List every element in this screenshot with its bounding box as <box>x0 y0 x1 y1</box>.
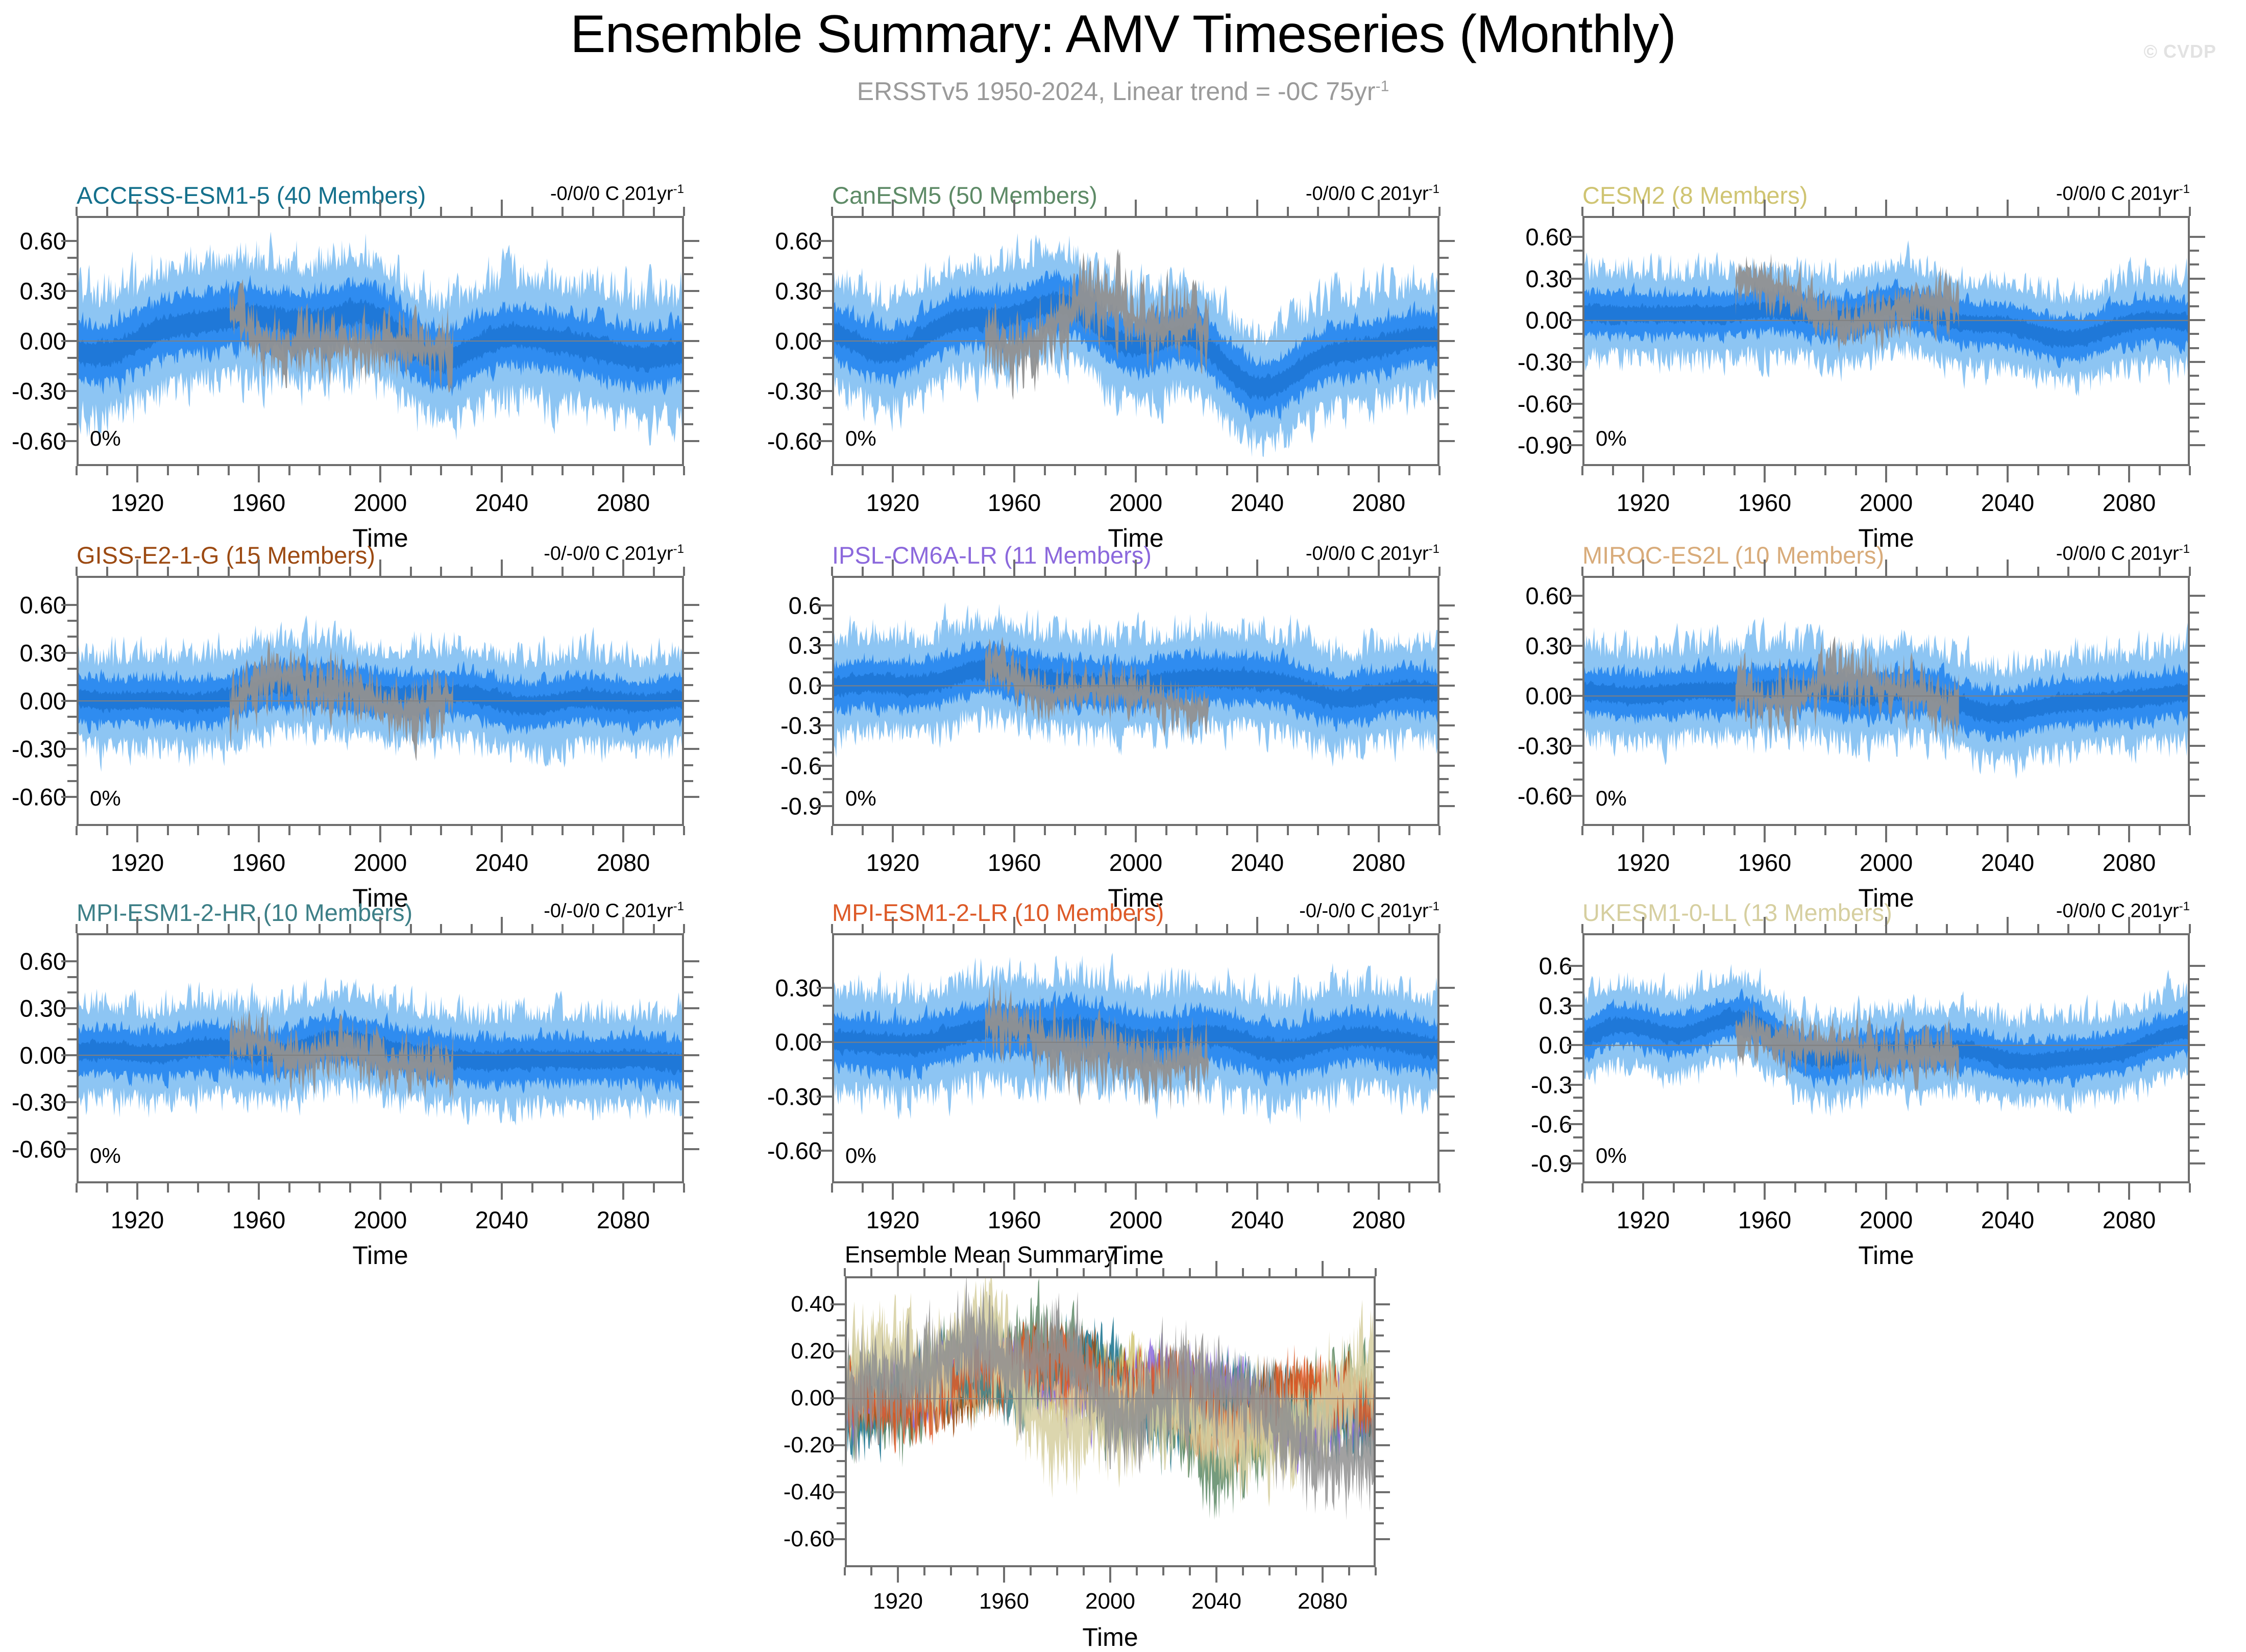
axis-tick <box>1439 698 1449 700</box>
y-axis-label: -0.3 <box>1455 1071 1572 1099</box>
y-axis-label: 0.30 <box>0 994 66 1023</box>
timeseries-plot <box>79 578 682 824</box>
axis-tick <box>592 207 594 216</box>
axis-tick <box>1242 1567 1244 1575</box>
axis-tick <box>2190 712 2199 714</box>
axis-tick <box>823 407 832 409</box>
axis-tick <box>1215 1261 1217 1276</box>
axis-tick <box>831 826 833 835</box>
axis-tick <box>2007 200 2009 216</box>
timeseries-plot <box>834 935 1437 1181</box>
axis-tick <box>471 826 473 835</box>
axis-tick <box>2190 628 2199 630</box>
axis-tick <box>684 1054 699 1056</box>
axis-tick <box>1105 466 1107 475</box>
x-axis-label: 1960 <box>988 489 1041 517</box>
axis-tick <box>1673 826 1675 835</box>
axis-tick <box>2190 1044 2205 1046</box>
axis-tick <box>684 620 693 622</box>
axis-tick <box>1165 207 1167 216</box>
axis-tick <box>1439 765 1455 767</box>
axis-tick <box>684 960 699 962</box>
axis-tick <box>1438 826 1441 835</box>
axis-tick <box>831 1397 845 1399</box>
axis-tick <box>410 207 412 216</box>
axis-tick <box>831 1444 845 1446</box>
x-axis-label: 2000 <box>354 848 407 877</box>
axis-tick <box>1074 567 1076 576</box>
axis-tick <box>1794 924 1796 933</box>
plot-area <box>77 576 684 826</box>
axis-tick <box>837 1381 845 1383</box>
x-axis-label: 2040 <box>475 1206 529 1234</box>
axis-tick <box>1256 200 1258 216</box>
axis-tick <box>1573 375 1582 377</box>
axis-tick <box>2190 1057 2199 1059</box>
axis-tick <box>817 340 832 342</box>
axis-tick <box>1573 1110 1582 1112</box>
axis-tick <box>1317 567 1319 576</box>
axis-tick <box>1612 567 1614 576</box>
axis-tick <box>76 466 78 475</box>
axis-tick <box>1378 466 1380 482</box>
axis-tick <box>1439 724 1455 726</box>
axis-tick <box>1317 826 1319 835</box>
axis-tick <box>2007 826 2009 842</box>
axis-tick <box>1195 924 1198 933</box>
axis-tick <box>61 390 77 392</box>
axis-tick <box>953 826 955 835</box>
y-axis-label: 0.00 <box>717 1386 835 1411</box>
axis-tick <box>823 373 832 375</box>
axis-tick <box>1824 466 1826 475</box>
y-axis-label: -0.30 <box>0 377 66 405</box>
axis-tick <box>1764 917 1766 933</box>
axis-tick <box>1976 924 1979 933</box>
axis-tick <box>379 917 381 933</box>
axis-tick <box>1376 1491 1390 1493</box>
axis-tick <box>197 924 199 933</box>
axis-tick <box>1439 440 1455 442</box>
axis-tick <box>1573 1136 1582 1138</box>
axis-tick <box>1567 745 1582 747</box>
axis-tick <box>1375 1567 1377 1575</box>
axis-tick <box>1794 567 1796 576</box>
axis-tick <box>1573 1071 1582 1073</box>
axis-tick <box>228 466 230 475</box>
x-axis-title: Time <box>1108 1241 1163 1270</box>
axis-tick <box>349 207 351 216</box>
axis-tick <box>684 407 693 409</box>
axis-tick <box>2190 1110 2199 1112</box>
axis-tick <box>862 466 864 475</box>
axis-tick <box>817 290 832 292</box>
y-axis-label: 0.20 <box>717 1339 835 1364</box>
panel-trend-annotation: -0/0/0 C 201yr-1 <box>1154 542 1439 565</box>
axis-tick <box>1376 1507 1384 1509</box>
y-axis-label: 0.60 <box>0 948 66 976</box>
axis-tick <box>2190 1097 2199 1099</box>
axis-tick <box>1376 1397 1390 1399</box>
axis-tick <box>862 826 864 835</box>
axis-tick <box>831 567 833 576</box>
axis-tick <box>1567 645 1582 647</box>
axis-tick <box>1581 924 1583 933</box>
axis-tick <box>1642 560 1644 576</box>
axis-tick <box>1376 1538 1390 1540</box>
axis-tick <box>1105 207 1107 216</box>
axis-tick <box>1215 1567 1217 1583</box>
axis-tick <box>1573 430 1582 432</box>
axis-tick <box>1317 207 1319 216</box>
axis-tick <box>823 658 832 660</box>
axis-tick <box>1013 560 1015 576</box>
axis-tick <box>1013 917 1015 933</box>
y-axis-label: 0.00 <box>704 327 822 355</box>
axis-tick <box>837 1475 845 1477</box>
axis-tick <box>1734 567 1736 576</box>
axis-tick <box>1567 695 1582 697</box>
axis-tick <box>1074 207 1076 216</box>
axis-tick <box>653 466 655 475</box>
axis-tick <box>1673 1183 1675 1193</box>
axis-tick <box>67 1023 77 1025</box>
y-axis-label: 0.30 <box>1455 264 1572 293</box>
axis-tick <box>440 924 442 933</box>
y-axis-label: -0.6 <box>1455 1110 1572 1138</box>
axis-tick <box>1439 685 1455 687</box>
axis-tick <box>953 1183 955 1193</box>
x-axis-label: 2040 <box>1231 848 1284 877</box>
axis-tick <box>1581 466 1583 475</box>
axis-tick <box>1408 1183 1410 1193</box>
axis-tick <box>258 560 260 576</box>
axis-tick <box>1573 978 1582 980</box>
axis-tick <box>823 671 832 673</box>
axis-tick <box>1376 1428 1384 1430</box>
axis-tick <box>1105 567 1107 576</box>
axis-tick <box>1573 388 1582 391</box>
y-axis-label: -0.60 <box>1455 782 1572 810</box>
axis-tick <box>67 991 77 993</box>
axis-tick <box>817 604 832 606</box>
axis-tick <box>1256 466 1258 482</box>
axis-tick <box>2190 403 2205 405</box>
cvdp-watermark: © CVDP <box>2143 41 2216 62</box>
axis-tick <box>1376 1366 1384 1368</box>
axis-tick <box>471 924 473 933</box>
axis-tick <box>2190 375 2199 377</box>
axis-tick <box>1916 924 1918 933</box>
axis-tick <box>258 917 260 933</box>
axis-tick <box>1855 567 1857 576</box>
axis-tick <box>410 567 412 576</box>
axis-tick <box>862 567 864 576</box>
axis-tick <box>67 323 77 325</box>
axis-tick <box>1376 1475 1384 1477</box>
x-axis-label: 2000 <box>1860 1206 1913 1234</box>
axis-tick <box>1573 712 1582 714</box>
axis-tick <box>1573 762 1582 764</box>
axis-tick <box>1287 207 1289 216</box>
axis-tick <box>2007 917 2009 933</box>
axis-tick <box>1408 207 1410 216</box>
axis-tick <box>1567 1044 1582 1046</box>
axis-tick <box>1885 1183 1887 1200</box>
axis-tick <box>1439 323 1449 325</box>
axis-tick <box>897 1567 899 1583</box>
y-axis-label: 0.00 <box>0 687 66 715</box>
x-axis-label: 2000 <box>1109 489 1163 517</box>
axis-tick <box>1408 466 1410 475</box>
axis-tick <box>1885 917 1887 933</box>
axis-tick <box>106 466 108 475</box>
axis-tick <box>561 466 564 475</box>
axis-tick <box>922 826 924 835</box>
axis-tick <box>2098 466 2100 475</box>
axis-tick <box>684 976 693 978</box>
axis-tick <box>1226 826 1228 835</box>
axis-tick <box>410 924 412 933</box>
axis-tick <box>1439 357 1449 359</box>
axis-tick <box>1642 917 1644 933</box>
axis-tick <box>1295 1567 1297 1575</box>
axis-tick <box>106 826 108 835</box>
axis-tick <box>1030 1268 1032 1276</box>
axis-tick <box>1438 1183 1441 1193</box>
axis-tick <box>67 307 77 309</box>
figure-subtitle: ERSSTv5 1950-2024, Linear trend = -0C 75… <box>0 77 2246 106</box>
x-axis-label: 1920 <box>866 848 920 877</box>
x-axis-label: 1920 <box>111 489 164 517</box>
x-axis-label: 2000 <box>354 1206 407 1234</box>
x-axis-label: 2040 <box>1231 489 1284 517</box>
panel-trend-annotation: -0/0/0 C 201yr-1 <box>1904 542 2190 565</box>
plot-area <box>1582 933 2190 1183</box>
axis-tick <box>2007 1183 2009 1200</box>
axis-tick <box>167 466 169 475</box>
x-axis-label: 2000 <box>1109 1206 1163 1234</box>
plot-area <box>77 933 684 1183</box>
axis-tick <box>1439 373 1449 375</box>
panel-trend-annotation: -0/0/0 C 201yr-1 <box>398 182 684 205</box>
axis-tick <box>823 711 832 713</box>
axis-tick <box>953 207 955 216</box>
axis-tick <box>592 567 594 576</box>
x-axis-label: 2040 <box>1981 489 2035 517</box>
timeseries-plot <box>834 218 1437 464</box>
axis-tick <box>1439 778 1449 780</box>
axis-tick <box>823 1113 832 1115</box>
axis-tick <box>319 1183 321 1193</box>
axis-tick <box>1794 1183 1796 1193</box>
axis-tick <box>1439 1023 1449 1025</box>
axis-tick <box>1642 200 1644 216</box>
axis-tick <box>1135 560 1137 576</box>
axis-tick <box>440 207 442 216</box>
axis-tick <box>1438 567 1441 576</box>
axis-tick <box>1567 278 1582 280</box>
axis-tick <box>1612 924 1614 933</box>
axis-tick <box>1162 1268 1164 1276</box>
axis-tick <box>1165 924 1167 933</box>
axis-tick <box>684 423 693 425</box>
axis-tick <box>1573 263 1582 265</box>
axis-tick <box>1013 200 1015 216</box>
axis-tick <box>1573 1018 1582 1020</box>
axis-tick <box>817 440 832 442</box>
axis-tick <box>1567 361 1582 363</box>
axis-tick <box>1439 307 1449 309</box>
x-axis-label: 1960 <box>979 1589 1029 1614</box>
axis-tick <box>870 1268 872 1276</box>
axis-tick <box>2189 1183 2191 1193</box>
x-axis-label: 2080 <box>1352 1206 1406 1234</box>
axis-tick <box>837 1413 845 1415</box>
axis-tick <box>1348 924 1350 933</box>
axis-tick <box>622 1183 624 1200</box>
axis-tick <box>561 207 564 216</box>
axis-tick <box>67 780 77 782</box>
x-axis-label: 2080 <box>2103 848 2156 877</box>
axis-tick <box>684 290 699 292</box>
axis-tick <box>892 1183 894 1200</box>
axis-tick <box>501 466 503 482</box>
axis-tick <box>531 207 533 216</box>
axis-tick <box>1242 1268 1244 1276</box>
axis-tick <box>817 1096 832 1098</box>
axis-tick <box>2128 917 2130 933</box>
y-axis-label: 0.40 <box>717 1292 835 1317</box>
percent-label: 0% <box>1596 426 1627 451</box>
axis-tick <box>1439 340 1455 342</box>
axis-tick <box>817 724 832 726</box>
axis-tick <box>61 1054 77 1056</box>
axis-tick <box>319 466 321 475</box>
axis-tick <box>837 1366 845 1368</box>
panel-trend-annotation: -0/-0/0 C 201yr-1 <box>398 542 684 565</box>
x-axis-label: 1920 <box>1617 489 1670 517</box>
axis-tick <box>837 1522 845 1524</box>
axis-tick <box>1885 200 1887 216</box>
axis-tick <box>2190 678 2199 681</box>
axis-tick <box>1439 751 1449 754</box>
axis-tick <box>1322 1261 1324 1276</box>
axis-tick <box>983 924 985 933</box>
axis-tick <box>1946 466 1948 475</box>
axis-tick <box>2037 826 2039 835</box>
axis-tick <box>1439 604 1455 606</box>
axis-tick <box>1195 826 1198 835</box>
y-axis-label: -0.9 <box>1455 1150 1572 1178</box>
x-axis-label: 1920 <box>866 1206 920 1234</box>
axis-tick <box>1195 567 1198 576</box>
axis-tick <box>1378 826 1380 842</box>
axis-tick <box>817 1150 832 1152</box>
axis-tick <box>953 924 955 933</box>
axis-tick <box>2190 1162 2205 1164</box>
axis-tick <box>1165 567 1167 576</box>
axis-tick <box>684 1023 693 1025</box>
axis-tick <box>2067 207 2069 216</box>
timeseries-plot <box>1584 935 2188 1181</box>
axis-tick <box>471 567 473 576</box>
axis-tick <box>1135 1183 1137 1200</box>
axis-tick <box>1439 631 1449 633</box>
axis-tick <box>1438 207 1441 216</box>
axis-tick <box>1439 407 1449 409</box>
axis-tick <box>1376 1381 1384 1383</box>
y-axis-label: 0.0 <box>1455 1031 1572 1059</box>
axis-tick <box>1567 444 1582 446</box>
axis-tick <box>1287 826 1289 835</box>
y-axis-label: 0.60 <box>0 227 66 255</box>
axis-tick <box>2037 924 2039 933</box>
axis-tick <box>1612 826 1614 835</box>
axis-tick <box>2190 965 2205 967</box>
axis-tick <box>684 991 693 993</box>
axis-tick <box>1916 466 1918 475</box>
axis-tick <box>684 748 699 750</box>
axis-tick <box>1703 1183 1705 1193</box>
axis-tick <box>1855 1183 1857 1193</box>
axis-tick <box>892 917 894 933</box>
x-axis-title: Time <box>352 1241 408 1270</box>
y-axis-label: 0.60 <box>0 591 66 619</box>
axis-tick <box>622 826 624 842</box>
axis-tick <box>823 357 832 359</box>
axis-tick <box>2189 924 2191 933</box>
plot-area <box>1582 576 2190 826</box>
axis-tick <box>1408 924 1410 933</box>
axis-tick <box>440 1183 442 1193</box>
axis-tick <box>1083 1567 1085 1575</box>
axis-tick <box>683 567 685 576</box>
axis-tick <box>1439 290 1455 292</box>
axis-tick <box>1287 466 1289 475</box>
axis-tick <box>983 1183 985 1193</box>
axis-tick <box>684 257 693 259</box>
axis-tick <box>1135 466 1137 482</box>
axis-tick <box>288 567 290 576</box>
axis-tick <box>2067 567 2069 576</box>
axis-tick <box>61 700 77 702</box>
axis-tick <box>2159 924 2161 933</box>
axis-tick <box>983 567 985 576</box>
x-axis-title: Time <box>1858 1241 1914 1270</box>
panel-title: MPI-ESM1-2-HR (10 Members) <box>77 898 412 927</box>
axis-tick <box>1105 924 1107 933</box>
axis-tick <box>684 700 699 702</box>
axis-tick <box>1074 466 1076 475</box>
timeseries-plot <box>79 935 682 1181</box>
y-axis-label: -0.60 <box>704 1137 822 1165</box>
axis-tick <box>1439 711 1449 713</box>
axis-tick <box>2190 347 2199 349</box>
axis-tick <box>831 1538 845 1540</box>
axis-tick <box>950 1268 952 1276</box>
axis-tick <box>67 764 77 766</box>
axis-tick <box>501 917 503 933</box>
axis-tick <box>1885 560 1887 576</box>
axis-tick <box>2190 795 2205 797</box>
x-axis-label: 2000 <box>354 489 407 517</box>
axis-tick <box>622 466 624 482</box>
axis-tick <box>2190 1071 2199 1073</box>
axis-tick <box>61 796 77 798</box>
axis-tick <box>592 924 594 933</box>
axis-tick <box>1734 924 1736 933</box>
